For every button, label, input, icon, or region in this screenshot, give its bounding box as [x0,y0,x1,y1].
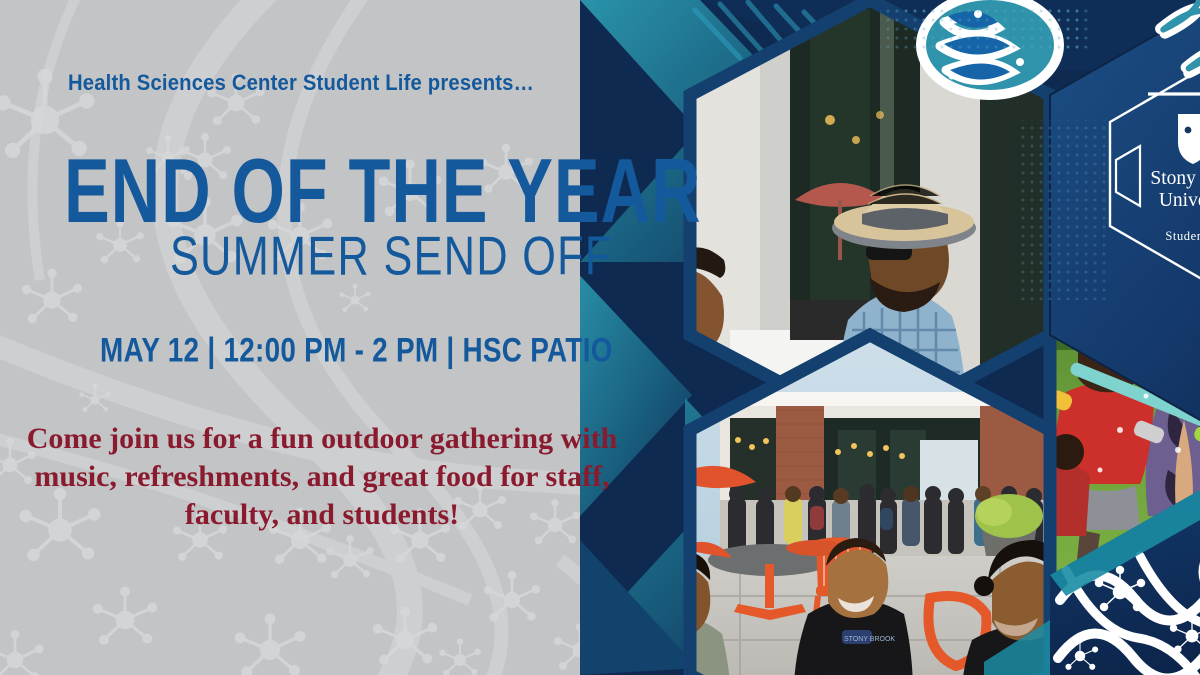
page-subtitle: SUMMER SEND OFF [170,230,613,285]
logo-unit: Student Life [1165,229,1200,243]
halftone-dots [880,8,1090,54]
halftone-dots [1020,120,1110,300]
description-line-2: music, refreshments, and great food for … [22,458,622,496]
logo-name-line-2: University [1159,190,1200,211]
text-column: Health Sciences Center Student Life pres… [0,0,620,675]
logo-name-line-1: Stony Brook [1150,168,1200,189]
event-flyer: Student Life [0,0,1200,675]
event-details: MAY 12 | 12:00 PM - 2 PM | HSC PATIO [100,330,613,370]
description-line-1: Come join us for a fun outdoor gathering… [22,420,622,458]
eyebrow-text: Health Sciences Center Student Life pres… [68,70,534,96]
photo-collage: Student Life [580,0,1200,675]
svg-text:STONY BROOK: STONY BROOK [844,636,895,643]
event-description: Come join us for a fun outdoor gathering… [22,420,622,533]
page-title: END OF THE YEAR [64,150,701,233]
description-line-3: faculty, and students! [22,496,622,534]
